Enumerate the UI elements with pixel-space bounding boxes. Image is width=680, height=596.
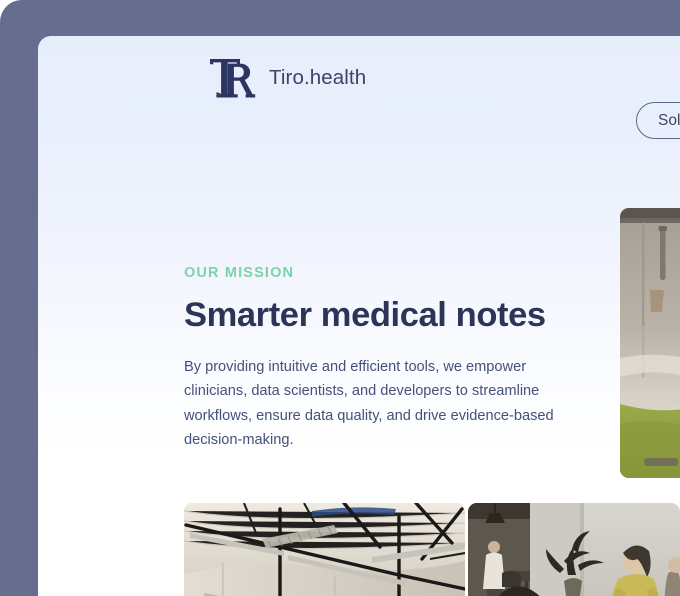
mission-eyebrow-label: OUR MISSION (184, 266, 584, 282)
nav-button-solutions[interactable]: Solutions (636, 102, 680, 139)
mission-section: OUR MISSION Smarter medical notes By pro… (184, 266, 584, 453)
gallery-photo-concrete-wall (620, 208, 680, 478)
gallery-photo-warehouse-interior (184, 503, 465, 596)
brand-logo-link[interactable]: Tiro.health (208, 52, 366, 104)
website-page-card: Tiro.health Solutions OUR MISSION Smarte… (38, 36, 680, 596)
brand-name-text: Tiro.health (269, 66, 366, 90)
gallery-photo-office-lounge (468, 503, 680, 596)
tiro-tr-monogram-icon (208, 52, 256, 104)
mission-body-paragraph: By providing intuitive and efficient too… (184, 355, 576, 453)
mission-heading: Smarter medical notes (184, 296, 584, 335)
site-header: Tiro.health Solutions (38, 36, 680, 120)
screenshot-root: Tiro.health Solutions OUR MISSION Smarte… (0, 0, 680, 596)
